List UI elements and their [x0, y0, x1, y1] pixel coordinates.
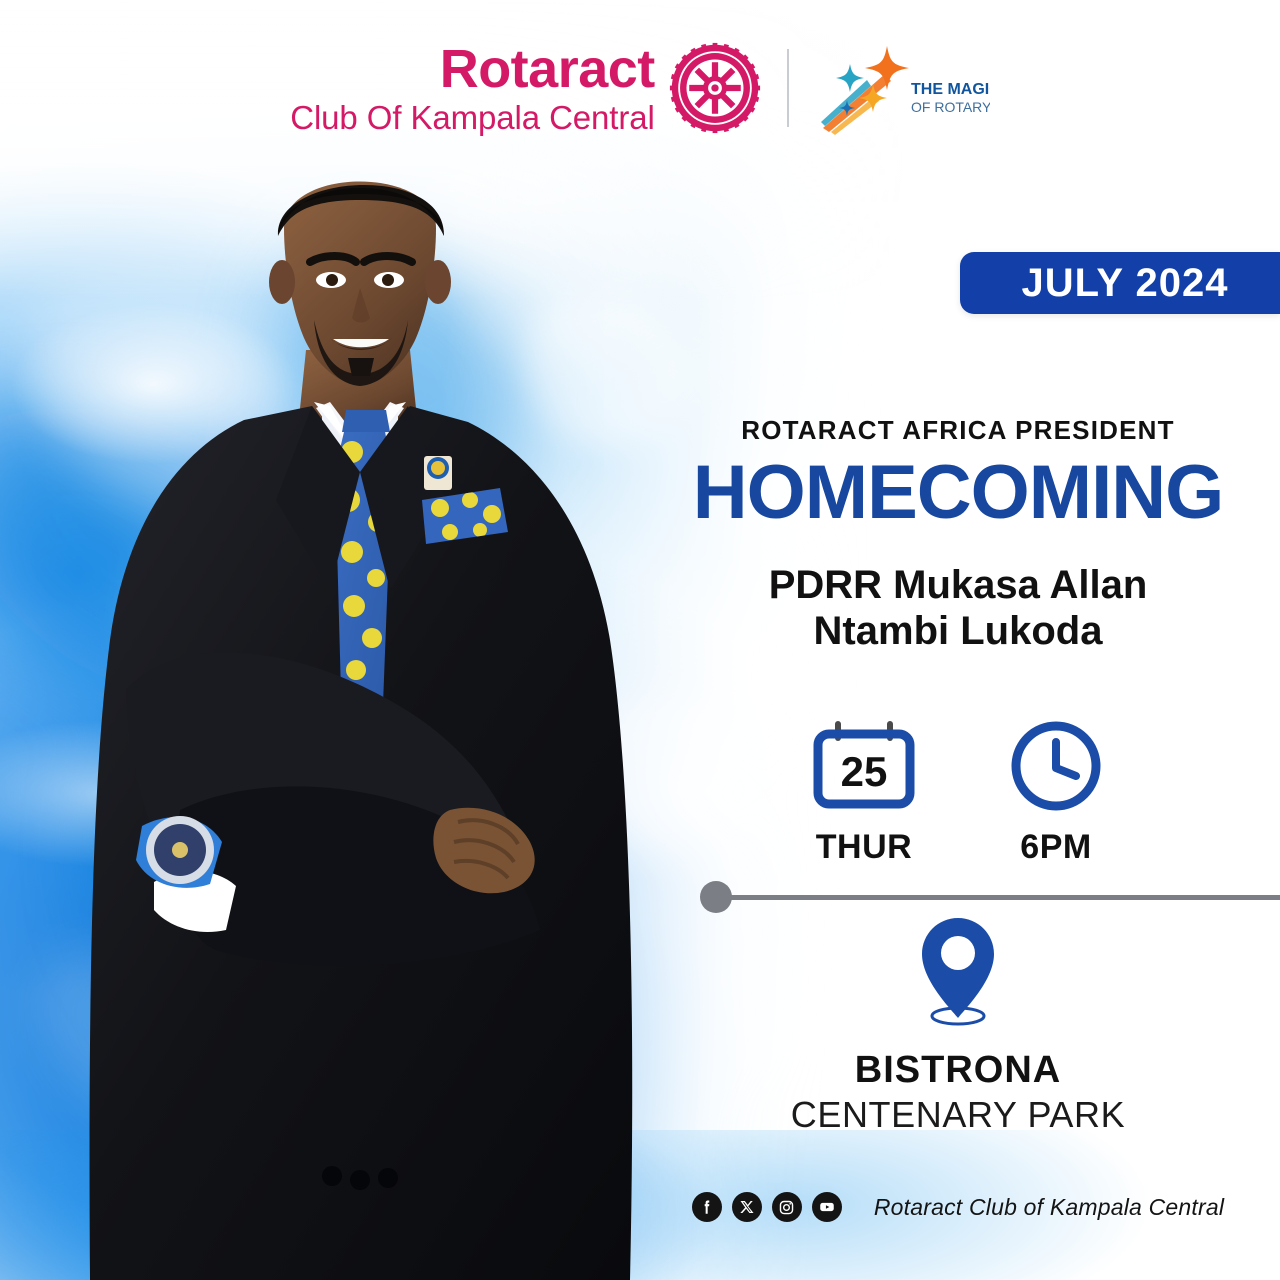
kicker-text: ROTARACT AFRICA PRESIDENT [636, 415, 1280, 446]
day-label: THUR [816, 828, 912, 867]
divider-dot [700, 881, 732, 913]
time-label: 6PM [1020, 828, 1091, 867]
x-twitter-icon[interactable] [732, 1192, 762, 1222]
section-divider [700, 881, 1280, 913]
rotaract-wordmark: Rotaract Club Of Kampala Central [290, 42, 655, 134]
venue-block: BISTRONA CENTENARY PARK [636, 912, 1280, 1136]
main-content: ROTARACT AFRICA PRESIDENT HOMECOMING PDR… [636, 415, 1280, 654]
youtube-icon[interactable] [812, 1192, 842, 1222]
time-block: 6PM [1008, 718, 1104, 867]
month-badge-label: JULY 2024 [1022, 261, 1229, 306]
header-divider [787, 49, 789, 127]
poster-header: Rotaract Club Of Kampala Central [0, 0, 1280, 175]
calendar-day-number: 25 [812, 748, 916, 796]
poster-footer: Rotaract Club of Kampala Central [636, 1192, 1280, 1222]
rotaract-club-logo: Rotaract Club Of Kampala Central [290, 42, 761, 134]
speaker-name-line2: Ntambi Lukoda [636, 608, 1280, 654]
theme-line-2: OF ROTARY [911, 99, 990, 115]
magic-of-rotary-logo: THE MAGIC OF ROTARY [815, 40, 990, 136]
instagram-icon[interactable] [772, 1192, 802, 1222]
club-handle: Rotaract Club of Kampala Central [874, 1194, 1224, 1221]
speaker-portrait [30, 170, 690, 1280]
theme-line-1: THE MAGIC [911, 81, 990, 98]
datetime-row: 25 THUR 6PM [636, 718, 1280, 867]
speaker-name-line1: PDRR Mukasa Allan [636, 562, 1280, 608]
speaker-name: PDRR Mukasa Allan Ntambi Lukoda [636, 562, 1280, 655]
event-poster: Rotaract Club Of Kampala Central [0, 0, 1280, 1280]
page-title: HOMECOMING [636, 454, 1280, 532]
venue-name: BISTRONA [636, 1049, 1280, 1092]
facebook-icon[interactable] [692, 1192, 722, 1222]
club-name: Club Of Kampala Central [290, 101, 655, 134]
date-block: 25 THUR [812, 718, 916, 867]
brand-name: Rotaract [440, 42, 655, 96]
clock-icon [1008, 718, 1104, 814]
location-pin-icon [912, 912, 1004, 1030]
magic-of-rotary-stars-icon: THE MAGIC OF ROTARY [815, 40, 990, 136]
venue-sub: CENTENARY PARK [636, 1094, 1280, 1136]
lapel-pin-icon [424, 456, 452, 490]
rotary-wheel-icon [669, 42, 761, 134]
month-badge: JULY 2024 [960, 252, 1280, 314]
social-links [692, 1192, 842, 1222]
divider-line [730, 895, 1280, 900]
calendar-wrap: 25 [812, 718, 916, 814]
